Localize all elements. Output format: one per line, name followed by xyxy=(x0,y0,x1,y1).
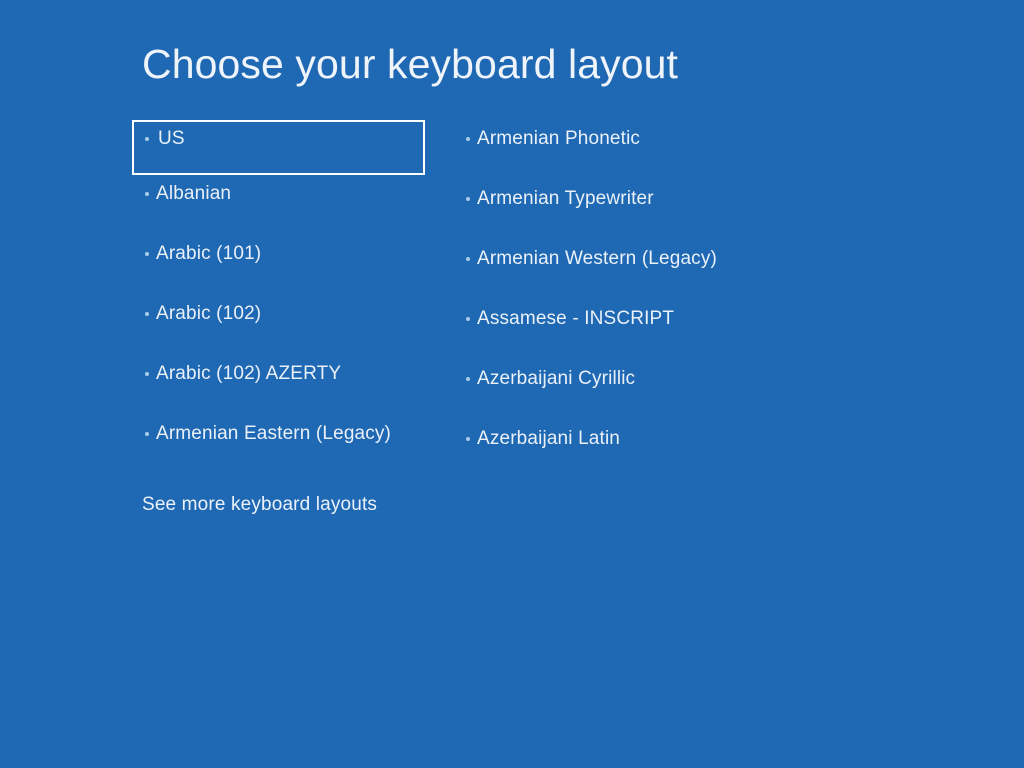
bullet-dot-icon xyxy=(466,437,470,441)
keyboard-layout-option-selected[interactable]: US xyxy=(132,120,425,175)
keyboard-layout-option[interactable]: Arabic (101) xyxy=(132,235,432,295)
bullet-dot-icon xyxy=(145,192,149,196)
keyboard-layout-option[interactable]: Arabic (102) AZERTY xyxy=(132,355,432,415)
keyboard-layout-list-right: Armenian PhoneticArmenian TypewriterArme… xyxy=(453,120,873,480)
bullet-dot-icon xyxy=(145,432,149,436)
keyboard-layout-option[interactable]: Albanian xyxy=(132,175,432,235)
keyboard-layout-option-label: Azerbaijani Latin xyxy=(477,420,620,452)
keyboard-layout-option[interactable]: Arabic (102) xyxy=(132,295,432,355)
keyboard-layout-option-label: Arabic (102) xyxy=(156,295,261,327)
keyboard-layout-option[interactable]: Armenian Eastern (Legacy) xyxy=(132,415,432,475)
bullet-dot-icon xyxy=(466,377,470,381)
keyboard-layout-option[interactable]: Assamese - INSCRIPT xyxy=(453,300,873,360)
bullet-dot-icon xyxy=(145,252,149,256)
keyboard-layout-option-label: US xyxy=(158,122,185,152)
keyboard-layout-screen: Choose your keyboard layout USAlbanianAr… xyxy=(0,0,1024,768)
keyboard-layout-option-label: Arabic (102) AZERTY xyxy=(156,355,341,387)
bullet-dot-icon xyxy=(466,317,470,321)
page-title: Choose your keyboard layout xyxy=(142,38,678,90)
keyboard-layout-option-label: Armenian Phonetic xyxy=(477,120,640,152)
keyboard-layout-option[interactable]: Armenian Typewriter xyxy=(453,180,873,240)
keyboard-layout-list-left: USAlbanianArabic (101)Arabic (102)Arabic… xyxy=(132,120,432,475)
keyboard-layout-option-label: Albanian xyxy=(156,175,231,207)
keyboard-layout-option-label: Armenian Western (Legacy) xyxy=(477,240,717,272)
bullet-dot-icon xyxy=(145,312,149,316)
keyboard-layout-option[interactable]: Azerbaijani Latin xyxy=(453,420,873,480)
keyboard-layout-option-label: Armenian Eastern (Legacy) xyxy=(156,415,391,447)
keyboard-layout-option-label: Armenian Typewriter xyxy=(477,180,654,212)
bullet-dot-icon xyxy=(466,257,470,261)
bullet-dot-icon xyxy=(145,137,149,141)
keyboard-layout-option-label: Assamese - INSCRIPT xyxy=(477,300,674,332)
keyboard-layout-option[interactable]: Armenian Western (Legacy) xyxy=(453,240,873,300)
bullet-dot-icon xyxy=(466,197,470,201)
keyboard-layout-option[interactable]: Armenian Phonetic xyxy=(453,120,873,180)
keyboard-layout-option-label: Arabic (101) xyxy=(156,235,261,267)
keyboard-layout-option[interactable]: Azerbaijani Cyrillic xyxy=(453,360,873,420)
bullet-dot-icon xyxy=(466,137,470,141)
bullet-dot-icon xyxy=(145,372,149,376)
see-more-keyboard-layouts-link[interactable]: See more keyboard layouts xyxy=(142,492,377,518)
keyboard-layout-option-label: Azerbaijani Cyrillic xyxy=(477,360,635,392)
